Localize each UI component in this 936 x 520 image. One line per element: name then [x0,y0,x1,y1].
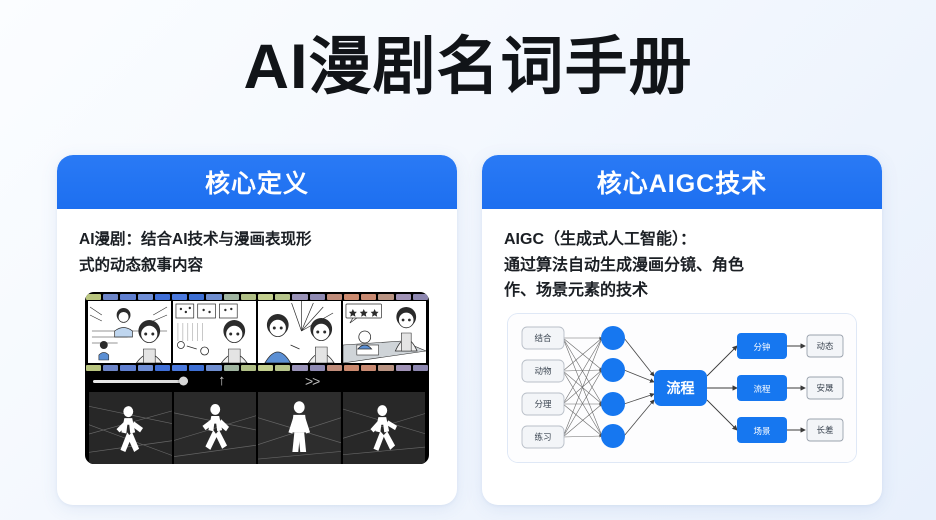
output-node-label: 场景 [753,426,770,436]
perf-cell [224,365,239,371]
pose-frame [89,392,172,464]
comic-panel [258,301,341,363]
perf-cell [189,294,204,300]
pose-frame [174,392,257,464]
output-node-label: 流程 [753,384,771,394]
perf-cell [120,365,135,371]
perf-cell [275,365,290,371]
input-node-label: 分理 [534,399,552,409]
perf-cell [103,294,118,300]
card-text-core-definition: AI漫剧：结合AI技术与漫画表现形 式的动态叙事内容 [79,227,435,278]
perf-cell [172,294,187,300]
pose-frame [258,392,341,464]
timeline-slider-track[interactable] [93,380,188,383]
perf-cell [241,365,256,371]
perf-cell [396,365,411,371]
perf-cell [241,294,256,300]
card-core-definition: 核心定义 AI漫剧：结合AI技术与漫画表现形 式的动态叙事内容 [57,155,457,505]
tail-node-group: 动态 安晟 长差 [807,335,843,441]
perf-cell [206,294,221,300]
tail-node-label: 动态 [816,341,834,351]
pose-frame [343,392,426,464]
output-node-group: 分钟 流程 场景 [737,333,787,443]
perf-cell [344,294,359,300]
arrow-up-icon: ↑ [218,372,226,390]
perf-cell [361,294,376,300]
filmstrip-perforations-bottom [85,363,429,372]
comic-panel [343,301,426,363]
card-header-core-definition: 核心定义 [57,155,457,209]
perf-cell [172,365,187,371]
card-text-core-aigc-tech: AIGC（生成式人工智能）： 通过算法自动生成漫画分镜、角色 作、场景元素的技术 [504,227,860,304]
card-container: 核心定义 AI漫剧：结合AI技术与漫画表现形 式的动态叙事内容 [57,155,883,505]
perf-cell [189,365,204,371]
perf-cell [224,294,239,300]
perf-cell [292,294,307,300]
fast-forward-icon: >> [305,372,319,390]
hidden-node [601,358,625,382]
tail-node-label: 长差 [816,425,833,435]
timeline-slider-row[interactable]: ↑ >> [85,372,429,390]
perf-cell [310,365,325,371]
input-node-label: 动物 [534,366,552,376]
perf-cell [378,294,393,300]
perf-cell [86,294,101,300]
perf-cell [275,294,290,300]
hidden-node [601,392,625,416]
perf-cell [86,365,101,371]
hidden-node [601,424,625,448]
filmstrip-media: ↑ >> [85,292,429,464]
page-title: AI漫剧名词手册 [0,33,936,102]
perf-cell [138,294,153,300]
tail-node-label: 安晟 [816,383,834,393]
neural-diagram-media: 结合 动物 分理 练习 [508,314,856,462]
card-body-core-aigc-tech: AIGC（生成式人工智能）： 通过算法自动生成漫画分镜、角色 作、场景元素的技术 [482,209,882,505]
perf-cell [155,294,170,300]
perf-cell [206,365,221,371]
perf-cell [292,365,307,371]
hidden-node [601,326,625,350]
poster-root: AI漫剧名词手册 核心定义 AI漫剧：结合AI技术与漫画表现形 式的动态叙事内容 [0,0,936,520]
neural-diagram-svg: 结合 动物 分理 练习 [508,314,856,462]
comic-panel [88,301,171,363]
perf-cell [327,365,342,371]
perf-cell [138,365,153,371]
input-node-label: 结合 [534,333,552,343]
perf-cell [361,365,376,371]
perf-cell [413,294,428,300]
pose-frame-row [85,390,429,464]
card-body-core-definition: AI漫剧：结合AI技术与漫画表现形 式的动态叙事内容 [57,209,457,505]
perf-cell [258,294,273,300]
output-node-label: 分钟 [753,342,770,352]
perf-cell [155,365,170,371]
card-core-aigc-tech: 核心AIGC技术 AIGC（生成式人工智能）： 通过算法自动生成漫画分镜、角色 … [482,155,882,505]
perf-cell [413,365,428,371]
perf-cell [396,294,411,300]
filmstrip-perforations-top [85,292,429,301]
perf-cell [258,365,273,371]
perf-cell [103,365,118,371]
perf-cell [327,294,342,300]
input-node-label: 练习 [534,432,551,442]
comic-panel-row [85,301,429,363]
perf-cell [310,294,325,300]
comic-panel [173,301,256,363]
perf-cell [344,365,359,371]
perf-cell [378,365,393,371]
card-header-core-aigc-tech: 核心AIGC技术 [482,155,882,209]
timeline-slider-knob[interactable] [179,377,188,386]
hub-node-label: 流程 [667,380,695,396]
perf-cell [120,294,135,300]
